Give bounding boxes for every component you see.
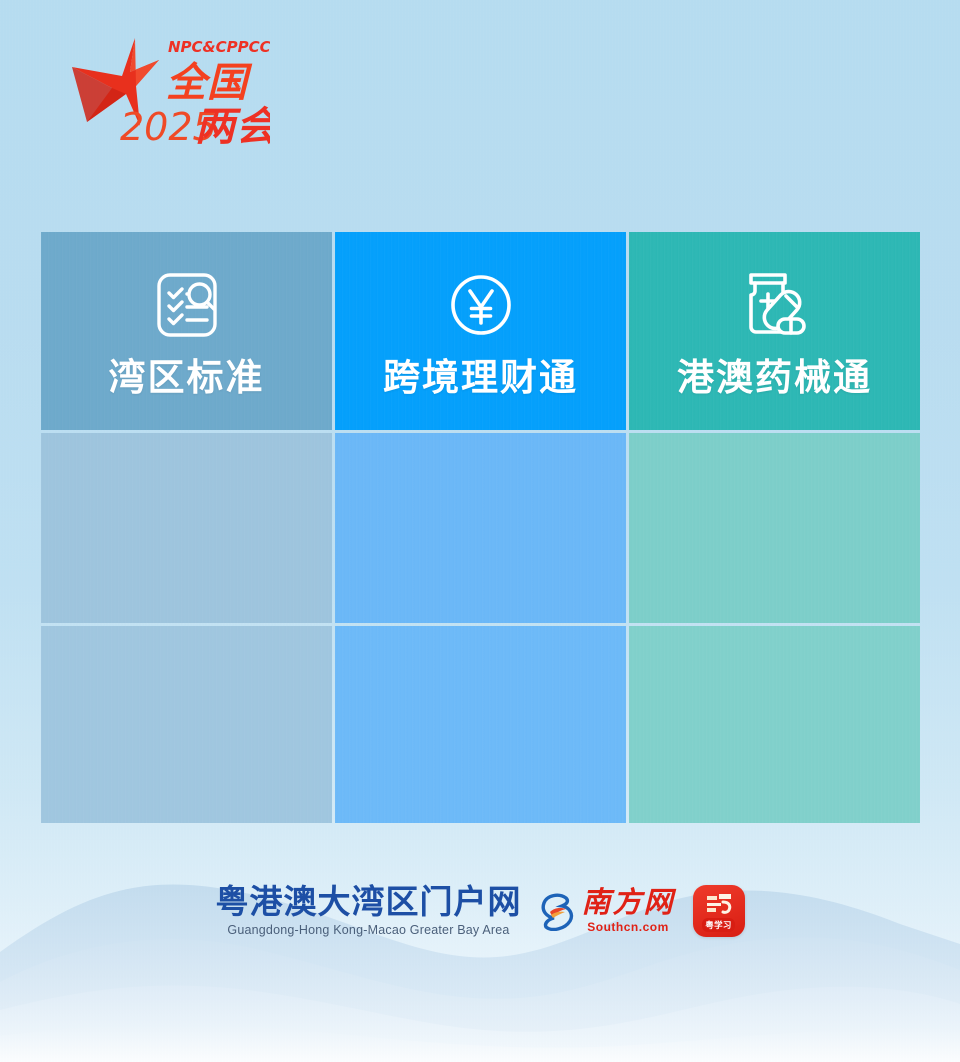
- grid-title-cross-boundary-wealth-management: 跨境理财通: [383, 359, 578, 396]
- grid-panel-bay-area-standards-foot[interactable]: [41, 626, 332, 823]
- grid-panel-cross-boundary-wealth-management-body[interactable]: [335, 433, 626, 623]
- southcn-chinese: 南方网: [581, 888, 674, 917]
- gba-portal-chinese: 粤港澳大湾区门户网: [215, 885, 521, 920]
- grid-cell-bay-area-standards[interactable]: 湾区标准: [41, 232, 332, 430]
- npc-cppcc-logo: NPC&CPPCC 全国 2025 两会: [60, 30, 270, 145]
- grid-cell-cross-boundary-wealth-management[interactable]: 跨境理财通: [335, 232, 626, 430]
- footer-logo-bar: 粤港澳大湾区门户网 Guangdong-Hong Kong-Macao Grea…: [0, 876, 960, 946]
- logo-cn-line2: 两会: [195, 104, 270, 145]
- yuexuexi-label: 粤学习: [702, 918, 734, 932]
- grid-title-hk-macao-medicine-device: 港澳药械通: [677, 359, 872, 396]
- logo-cn-line1: 全国: [166, 60, 253, 106]
- southcn-swirl-icon: [539, 891, 577, 931]
- southcn-domain: Southcn.com: [587, 920, 669, 934]
- grid-panel-hk-macao-medicine-device-body[interactable]: [629, 433, 920, 623]
- bottom-wave-decoration: [0, 832, 960, 1062]
- grid-title-bay-area-standards: 湾区标准: [109, 359, 265, 396]
- yuexuexi-app-icon[interactable]: 粤学习: [693, 885, 745, 937]
- grid-panel-bay-area-standards-body[interactable]: [41, 433, 332, 623]
- checklist-magnifier-icon: [149, 267, 225, 343]
- grid-cell-hk-macao-medicine-device[interactable]: 港澳药械通: [629, 232, 920, 430]
- yuexuexi-book-icon: [704, 892, 734, 916]
- gba-portal-logo[interactable]: 粤港澳大湾区门户网 Guangdong-Hong Kong-Macao Grea…: [215, 885, 521, 937]
- grid-panel-cross-boundary-wealth-management-foot[interactable]: [335, 626, 626, 823]
- medicine-bottle-pills-icon: [737, 267, 813, 343]
- npc-cppcc-english: NPC&CPPCC: [168, 38, 270, 56]
- grid-panel-hk-macao-medicine-device-foot[interactable]: [629, 626, 920, 823]
- gba-portal-english: Guangdong-Hong Kong-Macao Greater Bay Ar…: [227, 923, 509, 937]
- southcn-logo[interactable]: 南方网 Southcn.com: [539, 888, 674, 934]
- feature-grid: 湾区标准 跨境理财通: [41, 232, 920, 817]
- yuan-circle-icon: [443, 267, 519, 343]
